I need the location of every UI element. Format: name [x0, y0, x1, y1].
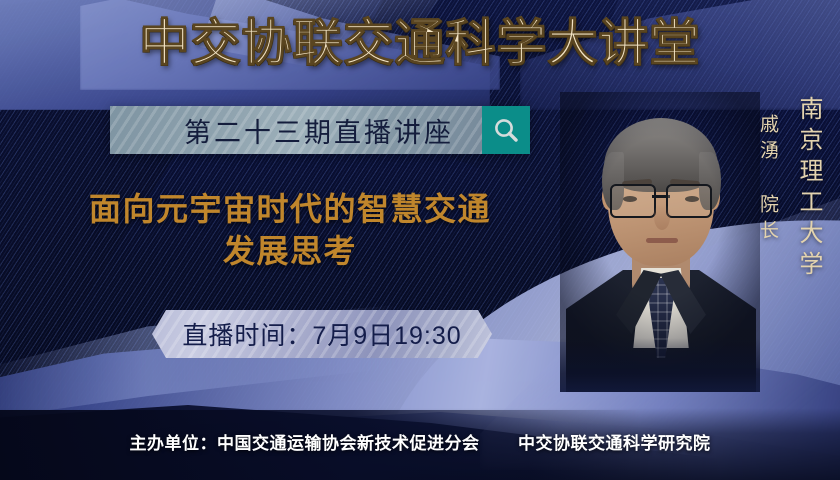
- lecture-title-line-2: 发展思考: [20, 230, 560, 272]
- live-lecture-poster: 中交协联交通科学大讲堂 第二十三期直播讲座 面向元宇宙时代的智慧交通 发展思考 …: [0, 0, 840, 480]
- search-icon[interactable]: [482, 106, 530, 154]
- episode-banner-body: 第二十三期直播讲座: [110, 106, 482, 154]
- speaker-portrait: [560, 92, 760, 392]
- speaker-info: 戚湧 院长 南京理工大学: [754, 96, 826, 282]
- broadcast-time-label: 直播时间：7月9日19:30: [182, 316, 461, 352]
- episode-banner: 第二十三期直播讲座: [110, 106, 530, 154]
- footer-organizers: 主办单位：中国交通运输协会新技术促进分会 中交协联交通科学研究院: [0, 429, 840, 454]
- page-title: 中交协联交通科学大讲堂: [0, 16, 840, 70]
- footer-organizer-secondary: 中交协联交通科学研究院: [518, 434, 711, 453]
- footer-organizer-primary: 主办单位：中国交通运输协会新技术促进分会: [130, 434, 480, 453]
- speaker-organization: 南京理工大学: [791, 96, 826, 282]
- lecture-title: 面向元宇宙时代的智慧交通 发展思考: [20, 188, 560, 272]
- broadcast-time-badge: 直播时间：7月9日19:30: [152, 310, 492, 358]
- episode-label: 第二十三期直播讲座: [138, 111, 454, 150]
- lecture-title-line-1: 面向元宇宙时代的智慧交通: [89, 191, 491, 227]
- speaker-name-title: 戚湧 院长: [754, 114, 781, 246]
- portrait-bottom-fade: [560, 338, 760, 392]
